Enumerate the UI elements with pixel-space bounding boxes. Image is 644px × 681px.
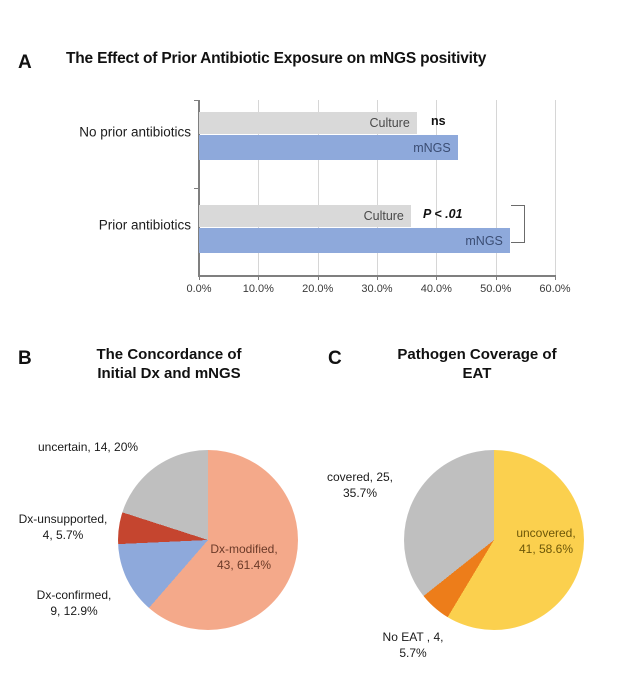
panel-a: A The Effect of Prior Antibiotic Exposur… — [0, 30, 644, 320]
pie-c-label-covered-line1: covered, 25, — [327, 470, 393, 484]
significance-bracket — [511, 205, 525, 243]
bar-label-culture-2: Culture — [364, 209, 404, 223]
xtick-label-50: 50.0% — [480, 283, 511, 295]
xtick-label-10: 10.0% — [243, 283, 274, 295]
xtick-40 — [436, 275, 437, 280]
xtick-label-0: 0.0% — [186, 283, 211, 295]
bar-culture-prior-antibiotics[interactable]: Culture — [199, 205, 411, 227]
pie-c-label-no-eat: No EAT , 4, 5.7% — [368, 630, 458, 661]
xtick-10 — [258, 275, 259, 280]
pie-c-label-no-eat-line1: No EAT , 4, — [383, 630, 444, 644]
xtick-label-30: 30.0% — [361, 283, 392, 295]
panel-c-title-line2: EAT — [463, 365, 492, 382]
pie-b-label-dx-modified-line2: 43, 61.4% — [217, 558, 271, 572]
gridline-60 — [555, 100, 556, 275]
significance-annotation-ns: ns — [431, 114, 446, 128]
pie-c-label-uncovered-line1: uncovered, — [516, 526, 575, 540]
pie-c-label-covered-line2: 35.7% — [343, 486, 377, 500]
xtick-50 — [496, 275, 497, 280]
panel-b-title-line2: Initial Dx and mNGS — [97, 365, 240, 382]
ytick-top — [194, 100, 200, 101]
bar-culture-no-prior-antibiotics[interactable]: Culture — [199, 112, 417, 134]
xtick-60 — [555, 275, 556, 280]
bar-label-culture-1: Culture — [370, 116, 410, 130]
pie-b-label-dx-confirmed-line2: 9, 12.9% — [50, 604, 97, 618]
bar-mngs-prior-antibiotics[interactable]: mNGS — [199, 228, 510, 253]
pie-c-label-no-eat-line2: 5.7% — [399, 646, 426, 660]
figure-root: A The Effect of Prior Antibiotic Exposur… — [0, 0, 644, 681]
bar-label-mngs-2: mNGS — [465, 234, 503, 248]
xtick-20 — [318, 275, 319, 280]
pie-c-label-uncovered: uncovered, 41, 58.6% — [496, 526, 596, 557]
panel-c: C Pathogen Coverage of EAT covered, 25, … — [318, 330, 644, 681]
panel-b-title: The Concordance of Initial Dx and mNGS — [44, 346, 294, 384]
pie-b-label-uncertain-text: uncertain, 14, 20% — [38, 440, 138, 454]
pie-b-label-dx-unsupported: Dx-unsupported, 4, 5.7% — [8, 512, 118, 543]
bar-mngs-no-prior-antibiotics[interactable]: mNGS — [199, 135, 458, 160]
panel-c-title-line1: Pathogen Coverage of — [397, 346, 556, 363]
panel-b: B The Concordance of Initial Dx and mNGS… — [0, 330, 322, 681]
bar-chart-plot-area: 0.0% 10.0% 20.0% 30.0% 40.0% 50.0% 60.0%… — [199, 100, 555, 275]
pie-b-label-dx-unsupported-line1: Dx-unsupported, — [19, 512, 108, 526]
pie-b-label-dx-unsupported-line2: 4, 5.7% — [43, 528, 84, 542]
panel-c-title: Pathogen Coverage of EAT — [352, 346, 602, 384]
category-label-prior-antibiotics: Prior antibiotics — [99, 218, 191, 233]
panel-c-letter: C — [328, 348, 342, 370]
pie-chart-concordance — [118, 450, 298, 630]
pie-b-label-dx-modified: Dx-modified, 43, 61.4% — [196, 542, 292, 573]
bar-label-mngs-1: mNGS — [413, 141, 451, 155]
pie-b-label-uncertain: uncertain, 14, 20% — [38, 440, 138, 456]
xtick-label-20: 20.0% — [302, 283, 333, 295]
ytick-middle — [194, 188, 200, 189]
panel-a-letter: A — [18, 52, 32, 74]
pie-c-label-covered: covered, 25, 35.7% — [318, 470, 402, 501]
panel-a-title: The Effect of Prior Antibiotic Exposure … — [66, 50, 626, 68]
panel-b-title-line1: The Concordance of — [96, 346, 241, 363]
xtick-30 — [377, 275, 378, 280]
pie-b-label-dx-confirmed: Dx-confirmed, 9, 12.9% — [22, 588, 126, 619]
pie-b-label-dx-modified-line1: Dx-modified, — [210, 542, 277, 556]
panel-b-letter: B — [18, 348, 32, 370]
category-label-no-prior-antibiotics: No prior antibiotics — [79, 125, 191, 140]
pie-c-label-uncovered-line2: 41, 58.6% — [519, 542, 573, 556]
significance-annotation-p-value: P < .01 — [423, 207, 463, 221]
pie-b-label-dx-confirmed-line1: Dx-confirmed, — [37, 588, 112, 602]
xtick-label-60: 60.0% — [539, 283, 570, 295]
xtick-0 — [199, 275, 200, 280]
xtick-label-40: 40.0% — [421, 283, 452, 295]
